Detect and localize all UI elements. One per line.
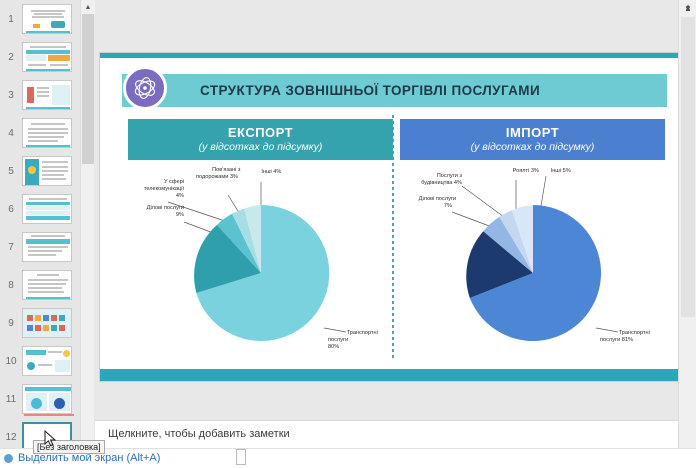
slide-thumbnail-1[interactable]: 1 xyxy=(0,0,80,38)
slide-thumbnail-8[interactable]: 8 xyxy=(0,266,80,304)
pie-label-construction: Послуги з будівництва 4% xyxy=(400,166,462,194)
slide-thumbnail-4[interactable]: 4 xyxy=(0,114,80,152)
slide-number: 6 xyxy=(0,204,22,215)
pie-label-travel: Пов'язані з подорожами 3% xyxy=(186,160,248,188)
pie-label-transport: Транспортні послуги 81% xyxy=(600,323,664,351)
slide-bottom-accent-bar xyxy=(100,369,678,381)
export-chart-panel: ЕКСПОРТ (у відсотках до підсумку) xyxy=(128,119,393,364)
current-slide[interactable]: СТРУКТУРА ЗОВНІШНЬОЇ ТОРГІВЛІ ПОСЛУГАМИ … xyxy=(100,53,678,381)
slide-preview[interactable] xyxy=(22,384,72,414)
notes-placeholder: Щелкните, чтобы добавить заметки xyxy=(108,428,290,440)
slide-thumbnail-2[interactable]: 2 xyxy=(0,38,80,76)
pie-label-telecom: У сфері телекомунікації 4% xyxy=(128,172,184,207)
slide-number: 1 xyxy=(0,14,22,25)
import-subtitle: (у відсотках до підсумку) xyxy=(471,141,595,153)
slide-preview[interactable] xyxy=(22,4,72,34)
slide-preview[interactable] xyxy=(22,194,72,224)
slide-number: 9 xyxy=(0,318,22,329)
slide-thumbnail-6[interactable]: 6 xyxy=(0,190,80,228)
scrollbar-thumb[interactable] xyxy=(681,17,695,317)
pie-slices xyxy=(466,205,601,341)
slide-thumbnail-5[interactable]: 5 xyxy=(0,152,80,190)
pie-label-other: Інші 4% xyxy=(242,162,282,183)
notes-pane[interactable]: Щелкните, чтобы добавить заметки xyxy=(95,420,678,448)
slide-preview[interactable] xyxy=(22,80,72,110)
slide-editing-area[interactable]: СТРУКТУРА ЗОВНІШНЬОЇ ТОРГІВЛІ ПОСЛУГАМИ … xyxy=(95,0,678,420)
slide-preview[interactable] xyxy=(22,42,72,72)
share-screen-icon xyxy=(4,454,13,463)
slide-top-accent-bar xyxy=(100,53,678,58)
slide-thumbnail-9[interactable]: 9 xyxy=(0,304,80,342)
page-title: СТРУКТУРА ЗОВНІШНЬОЇ ТОРГІВЛІ ПОСЛУГАМИ xyxy=(200,83,540,98)
import-title: ІМПОРТ xyxy=(506,126,559,141)
scroll-up-arrow-icon[interactable]: ▲ xyxy=(81,0,95,14)
pie-label-other: Інші 5% xyxy=(532,161,568,182)
slide-thumbnail-3[interactable]: 3 xyxy=(0,76,80,114)
pie-slices xyxy=(194,205,329,341)
share-bar-handle[interactable] xyxy=(236,449,246,465)
slide-preview[interactable] xyxy=(22,232,72,262)
slide-area-scrollbar[interactable]: ▲ ▼ ⬍ xyxy=(678,0,696,448)
slide-title-band: СТРУКТУРА ЗОВНІШНЬОЇ ТОРГІВЛІ ПОСЛУГАМИ xyxy=(122,74,667,107)
slide-thumbnail-panel[interactable]: 1 2 3 xyxy=(0,0,80,448)
slide-number: 7 xyxy=(0,242,22,253)
slide-number: 4 xyxy=(0,128,22,139)
slide-insert-marker xyxy=(24,414,74,416)
export-title: ЕКСПОРТ xyxy=(228,126,293,141)
slide-preview[interactable] xyxy=(22,308,72,338)
powerpoint-window: 1 2 3 xyxy=(0,0,696,468)
import-header: ІМПОРТ (у відсотках до підсумку) xyxy=(400,119,665,160)
slide-number: 10 xyxy=(0,356,22,367)
thumbnail-scrollbar[interactable]: ▲ xyxy=(80,0,94,448)
import-pie-chart[interactable]: Транспортні послуги 81% Ділові послуги 7… xyxy=(400,160,665,360)
import-chart-panel: ІМПОРТ (у відсотках до підсумку) xyxy=(400,119,665,364)
slide-number: 2 xyxy=(0,52,22,63)
slide-thumbnail-7[interactable]: 7 xyxy=(0,228,80,266)
slide-number: 5 xyxy=(0,166,22,177)
slide-number: 12 xyxy=(0,432,22,443)
slide-thumbnail-10[interactable]: 10 xyxy=(0,342,80,380)
slide-thumbnail-11[interactable]: 11 xyxy=(0,380,80,418)
slide-number: 8 xyxy=(0,280,22,291)
pane-splitter-icon[interactable]: ⬍ xyxy=(679,0,696,16)
export-header: ЕКСПОРТ (у відсотках до підсумку) xyxy=(128,119,393,160)
slide-number: 3 xyxy=(0,90,22,101)
slide-number: 11 xyxy=(0,394,22,405)
scrollbar-thumb[interactable] xyxy=(82,14,94,164)
slide-preview[interactable] xyxy=(22,156,72,186)
mouse-cursor xyxy=(44,430,58,453)
slide-preview[interactable] xyxy=(22,270,72,300)
slide-preview[interactable] xyxy=(22,346,72,376)
pie-label-transport: Транспортні послуги 80% xyxy=(328,323,390,358)
export-subtitle: (у відсотках до підсумку) xyxy=(199,141,323,153)
export-pie-chart[interactable]: Транспортні послуги 80% Ділові послуги 9… xyxy=(128,160,393,360)
atom-icon xyxy=(123,66,167,110)
slide-preview[interactable] xyxy=(22,118,72,148)
